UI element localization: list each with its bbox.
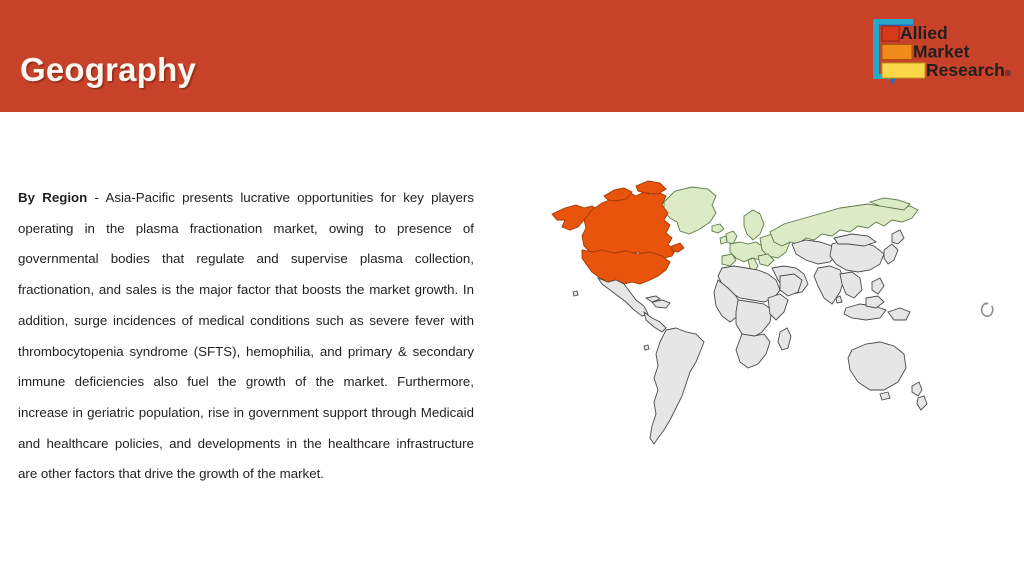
map-region-ireland bbox=[720, 236, 727, 244]
map-region-borneo bbox=[866, 296, 884, 308]
map-region-japan-north bbox=[892, 230, 904, 244]
map-region-new-zealand bbox=[912, 382, 922, 396]
circular-arrow-icon bbox=[978, 301, 996, 319]
map-region-greenland bbox=[664, 187, 716, 234]
region-description-paragraph: By Region - Asia-Pacific presents lucrat… bbox=[18, 183, 474, 490]
paragraph-lead-label: By Region bbox=[18, 190, 87, 205]
map-region-central-america bbox=[644, 312, 666, 332]
logo-bar-red bbox=[882, 26, 899, 41]
map-region-small-island-atlantic bbox=[573, 291, 578, 296]
map-region-southern-africa bbox=[736, 334, 770, 368]
map-region-southeast-asia bbox=[840, 272, 862, 298]
map-region-new-guinea bbox=[888, 308, 910, 320]
page-title: Geography bbox=[20, 53, 196, 86]
map-region-new-zealand-south bbox=[917, 396, 927, 410]
map-region-canada bbox=[582, 192, 676, 258]
map-region-scandinavia bbox=[744, 210, 764, 240]
map-region-newfoundland bbox=[672, 243, 684, 252]
map-region-british-isles bbox=[726, 231, 737, 244]
svg-text:®: ® bbox=[1005, 69, 1011, 78]
map-region-south-america bbox=[650, 328, 704, 444]
map-region-canada-arctic-islands-2 bbox=[636, 181, 666, 194]
map-region-australia bbox=[848, 342, 906, 390]
map-region-korea-japan bbox=[884, 244, 898, 264]
svg-text:Market: Market bbox=[913, 42, 970, 62]
logo-bar-orange bbox=[882, 45, 912, 60]
map-region-central-africa bbox=[736, 300, 772, 338]
map-region-philippines bbox=[872, 278, 884, 294]
svg-text:Research: Research bbox=[926, 60, 1005, 80]
map-region-tasmania bbox=[880, 392, 890, 400]
map-region-mongolia bbox=[834, 234, 876, 246]
allied-market-research-logo: Allied Market Research ® bbox=[869, 16, 1014, 88]
map-region-iceland bbox=[712, 224, 724, 233]
map-region-small-island-pacific bbox=[644, 345, 649, 350]
world-region-map bbox=[540, 172, 940, 452]
logo-bar-yellow bbox=[882, 63, 925, 78]
paragraph-body-text: - Asia-Pacific presents lucrative opport… bbox=[18, 190, 474, 481]
map-region-madagascar bbox=[778, 328, 791, 350]
svg-text:Allied: Allied bbox=[900, 23, 948, 43]
map-region-sri-lanka bbox=[836, 296, 842, 303]
map-region-united-states bbox=[582, 250, 670, 284]
map-region-indonesia bbox=[844, 304, 886, 320]
